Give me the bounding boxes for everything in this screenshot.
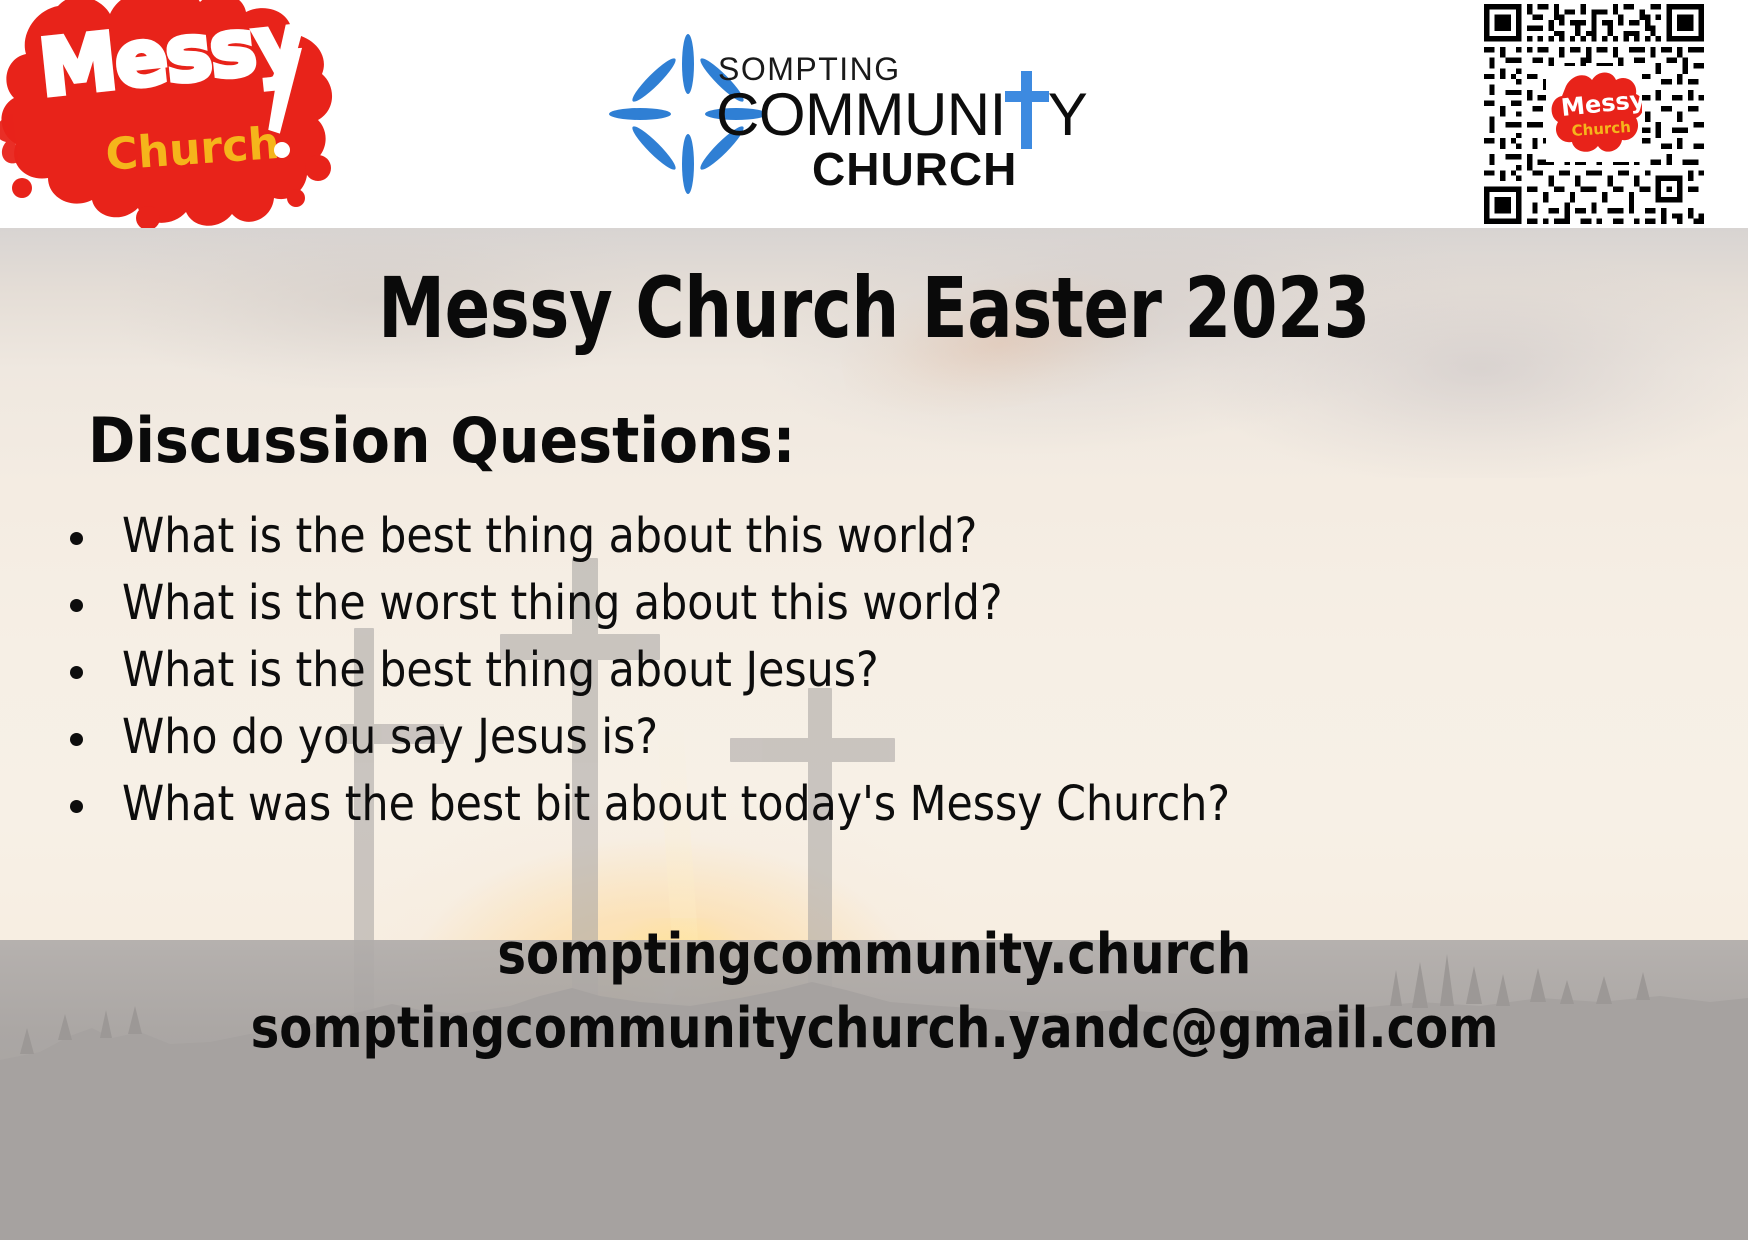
bullet-icon	[70, 733, 83, 746]
bullet-icon	[70, 666, 83, 679]
list-item: What is the worst thing about this world…	[30, 573, 1450, 640]
poster-root: Messy Church	[0, 0, 1748, 1240]
list-item: What is the best thing about this world?	[30, 506, 1450, 573]
logo-line-community: COMMUNI Y	[716, 80, 1087, 149]
poster-content: Messy Church Easter 2023 Discussion Ques…	[0, 228, 1748, 1240]
bullet-icon	[70, 800, 83, 813]
bullet-icon	[70, 532, 83, 545]
discussion-questions-list: What is the best thing about this world?…	[30, 506, 1450, 841]
qr-embedded-messy-church-logo: Messy Church	[1546, 66, 1642, 162]
email-line[interactable]: somptingcommunitychurch.yandc@gmail.com	[0, 992, 1748, 1066]
sompting-community-church-logo: SOMPTING COMMUNI Y CHURCH	[608, 26, 998, 196]
bullet-icon	[70, 599, 83, 612]
page-title: Messy Church Easter 2023	[175, 266, 1573, 350]
logo-line-church: CHURCH	[812, 142, 1017, 196]
contact-block: somptingcommunity.church somptingcommuni…	[0, 918, 1748, 1066]
list-item: What was the best bit about today's Mess…	[30, 774, 1450, 841]
logo-community-suffix: Y	[1048, 81, 1088, 148]
question-text: Who do you say Jesus is?	[122, 707, 658, 767]
question-text: What is the worst thing about this world…	[122, 573, 1003, 633]
email-text: somptingcommunitychurch.yandc@gmail.com	[250, 992, 1498, 1066]
website-line[interactable]: somptingcommunity.church	[0, 918, 1748, 992]
list-item: What is the best thing about Jesus?	[30, 640, 1450, 707]
section-heading-discussion-questions: Discussion Questions:	[88, 410, 795, 472]
community-church-wordmark: SOMPTING COMMUNI Y CHURCH	[716, 26, 1006, 196]
messy-church-logo: Messy Church	[0, 0, 335, 228]
list-item: Who do you say Jesus is?	[30, 707, 1450, 774]
qr-code[interactable]: Messy Church	[1484, 4, 1704, 224]
question-text: What is the best thing about Jesus?	[122, 640, 879, 700]
question-text: What was the best bit about today's Mess…	[122, 774, 1230, 834]
header-bar: Messy Church	[0, 0, 1748, 228]
website-text: somptingcommunity.church	[497, 918, 1251, 992]
question-text: What is the best thing about this world?	[122, 506, 977, 566]
logo-community-prefix: COMMUNI	[716, 81, 1006, 148]
